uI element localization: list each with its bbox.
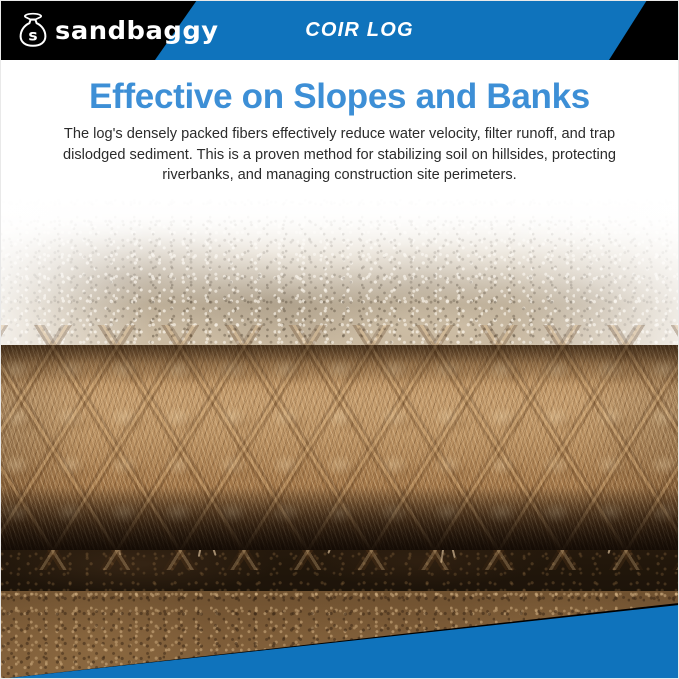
product-marketing-card: s sandbaggy COIR LOG Effective on Slopes… <box>0 0 679 679</box>
header-bar: s sandbaggy COIR LOG <box>0 0 679 60</box>
log-top-shadow <box>0 345 679 385</box>
coir-log-netting <box>0 345 679 550</box>
product-label: COIR LOG <box>0 0 679 60</box>
body-copy: The log's densely packed fibers effectiv… <box>26 124 653 186</box>
log-bottom-shadow <box>0 488 679 550</box>
photo-inner <box>0 195 679 679</box>
page-title: Effective on Slopes and Banks <box>26 78 653 116</box>
text-block: Effective on Slopes and Banks The log's … <box>0 60 679 186</box>
product-photo <box>0 195 679 679</box>
